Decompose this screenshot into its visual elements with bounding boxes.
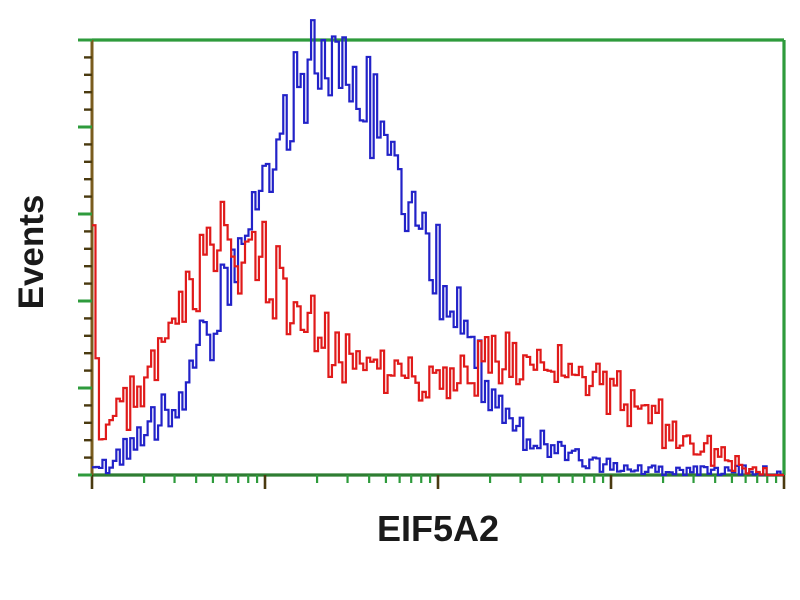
- y-axis-ticks: [78, 40, 92, 475]
- histogram-traces: [92, 20, 784, 475]
- y-axis-label: Events: [12, 162, 52, 342]
- x-axis-label: EIF5A2: [92, 508, 784, 550]
- trace-blue: [92, 20, 784, 475]
- flow-cytometry-figure: Events EIF5A2: [0, 0, 800, 600]
- x-axis-ticks: [92, 475, 784, 489]
- trace-red: [92, 202, 784, 475]
- plot-frame: [92, 40, 784, 475]
